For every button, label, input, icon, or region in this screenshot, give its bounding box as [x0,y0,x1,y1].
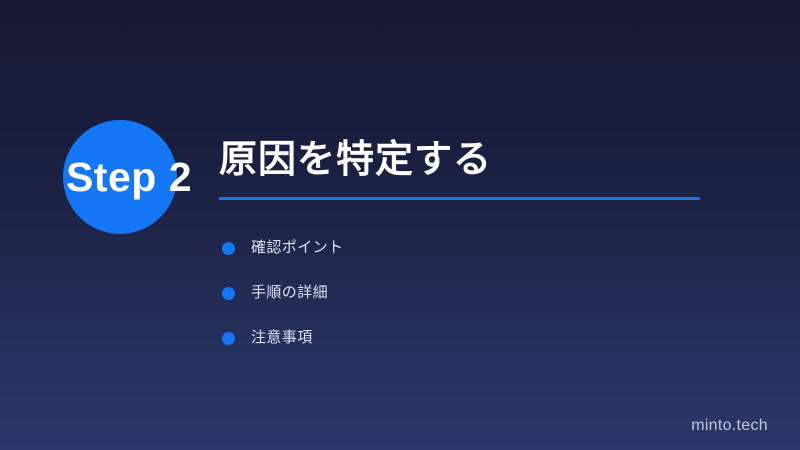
bullet-dot-icon [222,332,235,345]
footer-watermark: minto.tech [691,417,768,435]
list-item-label: 注意事項 [251,327,313,349]
slide-title: 原因を特定する [219,140,700,182]
title-underline-rule [219,197,700,200]
bullet-dot-icon [222,287,235,300]
bullet-list: 確認ポイント 手順の詳細 注意事項 [220,237,343,372]
step-number-label: Step 2 [0,118,200,236]
list-item: 注意事項 [220,327,343,372]
title-block: 原因を特定する [219,140,700,200]
list-item: 手順の詳細 [220,282,343,327]
list-item-label: 確認ポイント [251,237,343,259]
presentation-slide: Step 2 原因を特定する 確認ポイント 手順の詳細 注意事項 minto.t… [0,0,800,450]
list-item: 確認ポイント [220,237,343,282]
list-item-label: 手順の詳細 [251,282,328,304]
step-badge: Step 2 [0,118,210,236]
bullet-dot-icon [222,242,235,255]
